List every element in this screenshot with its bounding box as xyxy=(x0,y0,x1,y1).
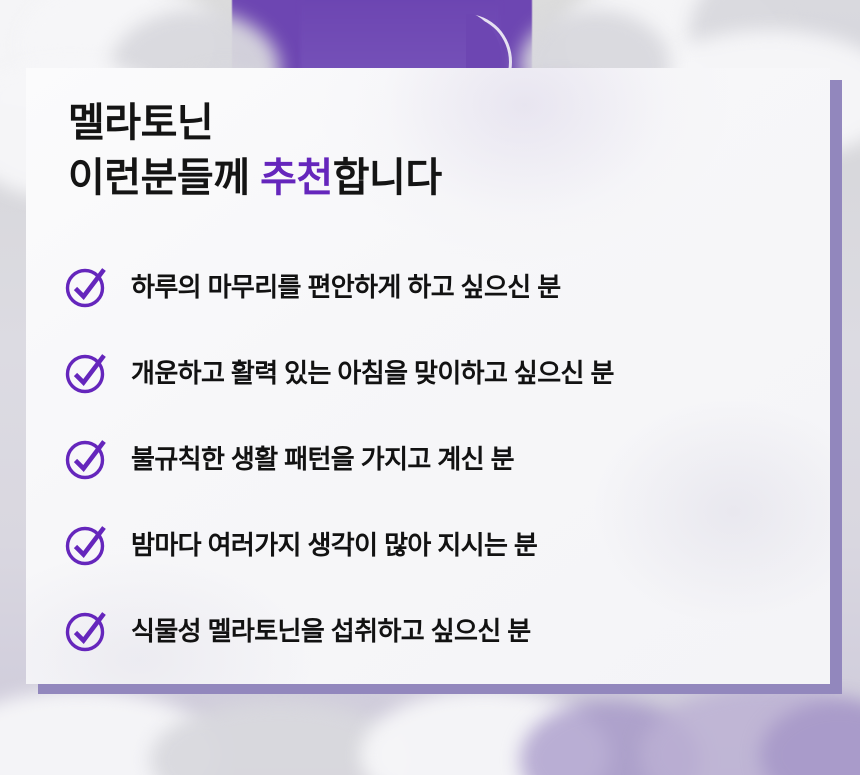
check-circle-icon xyxy=(64,523,108,567)
content-card: 멜라토닌 이런분들께 추천합니다 하루의 마무리를 편안하게 하고 싶으신 분 xyxy=(26,68,830,684)
list-item-label: 불규칙한 생활 패턴을 가지고 계신 분 xyxy=(131,442,514,476)
title-highlight: 추천 xyxy=(260,156,333,200)
list-item: 개운하고 활력 있는 아침을 맞이하고 싶으신 분 xyxy=(64,330,804,416)
title-line-1: 멜라토닌 xyxy=(68,96,768,151)
list-item-label: 밤마다 여러가지 생각이 많아 지시는 분 xyxy=(131,528,537,562)
checklist: 하루의 마무리를 편안하게 하고 싶으신 분 개운하고 활력 있는 아침을 맞이… xyxy=(64,244,804,674)
title-line-2: 이런분들께 추천합니다 xyxy=(68,151,768,206)
page-title: 멜라토닌 이런분들께 추천합니다 xyxy=(68,96,768,206)
list-item: 밤마다 여러가지 생각이 많아 지시는 분 xyxy=(64,502,804,588)
list-item: 불규칙한 생활 패턴을 가지고 계신 분 xyxy=(64,416,804,502)
check-circle-icon xyxy=(64,437,108,481)
check-circle-icon xyxy=(64,351,108,395)
banner-root: 멜라토닌 이런분들께 추천합니다 하루의 마무리를 편안하게 하고 싶으신 분 xyxy=(0,0,860,775)
list-item: 식물성 멜라토닌을 섭취하고 싶으신 분 xyxy=(64,588,804,674)
check-circle-icon xyxy=(64,265,108,309)
list-item-label: 식물성 멜라토닌을 섭취하고 싶으신 분 xyxy=(131,614,531,648)
list-item-label: 개운하고 활력 있는 아침을 맞이하고 싶으신 분 xyxy=(131,356,614,390)
title-line-2-prefix: 이런분들께 xyxy=(68,156,260,200)
list-item: 하루의 마무리를 편안하게 하고 싶으신 분 xyxy=(64,244,804,330)
list-item-label: 하루의 마무리를 편안하게 하고 싶으신 분 xyxy=(131,270,561,304)
check-circle-icon xyxy=(64,609,108,653)
title-line-2-suffix: 합니다 xyxy=(333,156,442,200)
